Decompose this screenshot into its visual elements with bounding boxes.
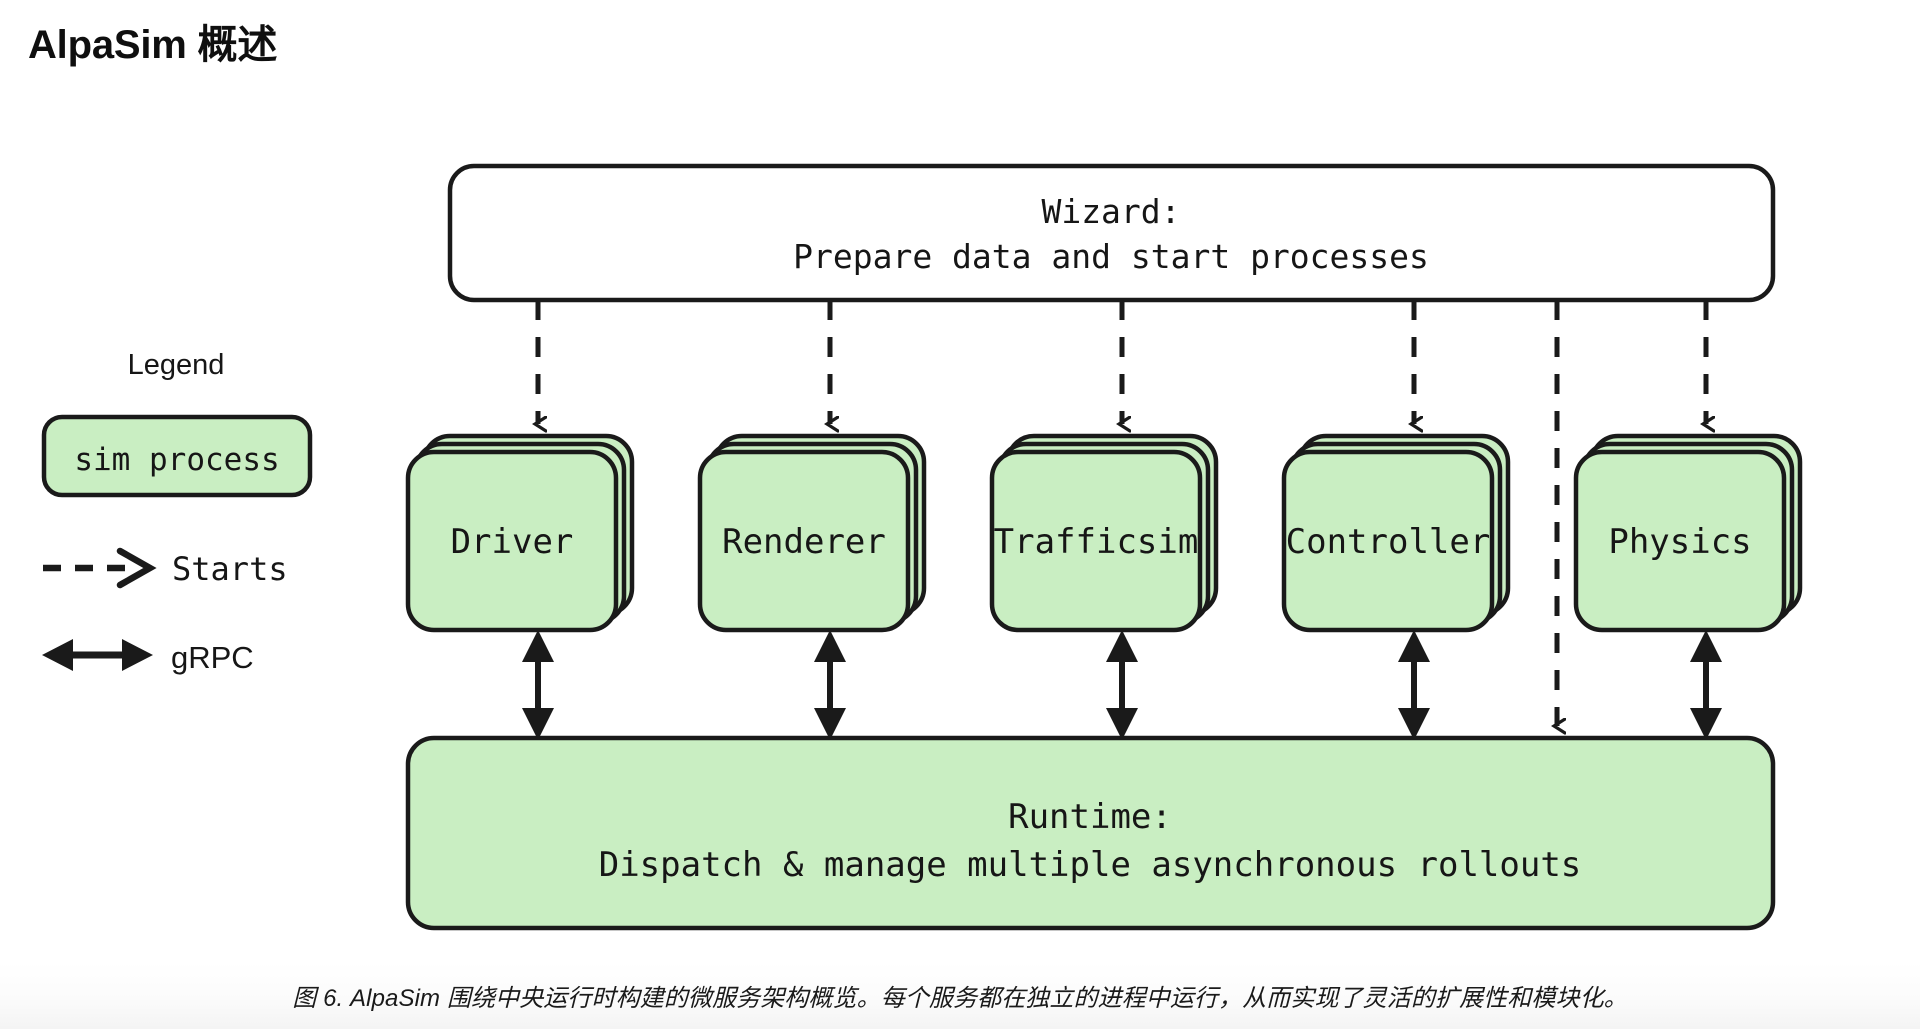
wizard-node[interactable]: Wizard: Prepare data and start processes: [450, 166, 1773, 300]
service-stacks-group: Driver Renderer Trafficsim Co: [408, 436, 1800, 630]
figure-caption: 图 6. AlpaSim 围绕中央运行时构建的微服务架构概览。每个服务都在独立的…: [0, 962, 1920, 1029]
legend-group: Legend sim process Starts gRPC: [42, 349, 310, 675]
runtime-node[interactable]: Runtime: Dispatch & manage multiple asyn…: [408, 738, 1773, 928]
service-node-physics[interactable]: Physics: [1576, 436, 1800, 630]
legend-heading: Legend: [128, 349, 225, 381]
service-node-driver[interactable]: Driver: [408, 436, 632, 630]
wizard-box[interactable]: [450, 166, 1773, 300]
service-label-trafficsim: Trafficsim: [994, 522, 1199, 562]
grpc-edge-driver: [522, 630, 554, 740]
service-node-controller[interactable]: Controller: [1284, 436, 1508, 630]
service-label-renderer: Renderer: [722, 522, 886, 562]
legend-process-label: sim process: [74, 442, 279, 478]
figure-page: AlpaSim 概述 Legend sim process Sta: [0, 0, 1920, 1029]
service-label-controller: Controller: [1286, 522, 1491, 562]
legend-grpc-label: gRPC: [171, 640, 254, 675]
service-label-driver: Driver: [451, 522, 574, 562]
grpc-edge-physics: [1690, 630, 1722, 740]
architecture-diagram: Legend sim process Starts gRPC Wizard: P…: [0, 0, 1920, 960]
service-label-physics: Physics: [1608, 522, 1751, 562]
figure-caption-text: 图 6. AlpaSim 围绕中央运行时构建的微服务架构概览。每个服务都在独立的…: [292, 978, 1628, 1013]
double-headed-arrow-icon: [42, 639, 153, 671]
service-node-trafficsim[interactable]: Trafficsim: [992, 436, 1216, 630]
grpc-edge-renderer: [814, 630, 846, 740]
wizard-line1: Wizard:: [1041, 192, 1180, 231]
service-node-renderer[interactable]: Renderer: [700, 436, 924, 630]
grpc-edge-controller: [1398, 630, 1430, 740]
grpc-edges-group: [522, 630, 1722, 740]
grpc-edge-trafficsim: [1106, 630, 1138, 740]
dashed-arrow-icon: [43, 551, 150, 585]
runtime-line2: Dispatch & manage multiple asynchronous …: [599, 845, 1582, 885]
wizard-line2: Prepare data and start processes: [793, 237, 1429, 276]
runtime-line1: Runtime:: [1008, 797, 1172, 837]
legend-starts-label: Starts: [172, 550, 288, 588]
